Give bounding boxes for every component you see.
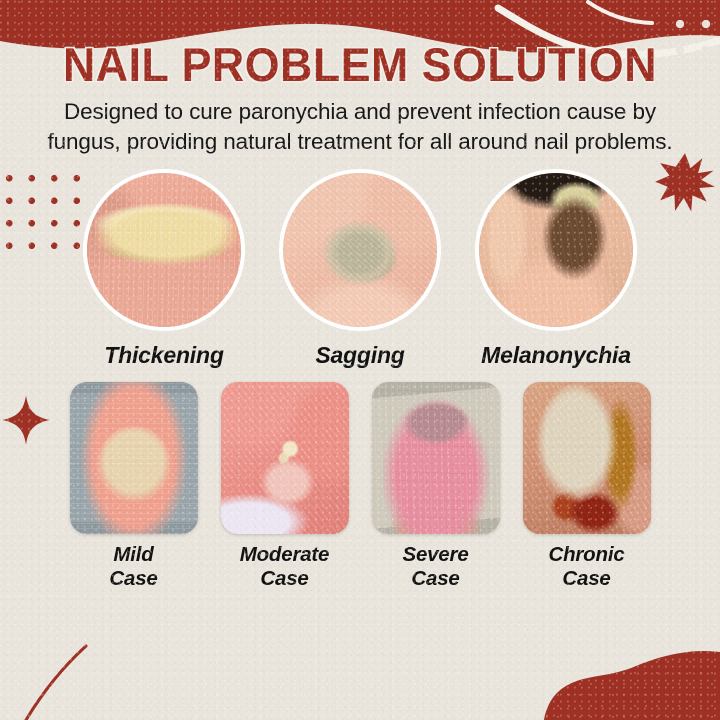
condition-label-thickening: Thickening [80,342,248,369]
severity-item-severe[interactable]: Severe Case [368,382,503,592]
page-subtitle: Designed to cure paronychia and prevent … [40,97,680,157]
severe-case-photo-frame [372,382,500,534]
severity-row: Mild Case Moderate Case Severe Case [0,382,720,592]
condition-label-sagging: Sagging [276,342,444,369]
severity-label-severe: Severe Case [368,543,503,592]
red-curve-line-bottom [20,640,150,720]
severity-label-mild-line1: Mild [113,543,153,566]
severe-case-photo [372,382,500,534]
nail-thickening-photo-frame [83,169,245,331]
nail-sagging-photo-frame [279,169,441,331]
severity-label-chronic-line2: Case [519,567,654,592]
mild-case-photo-frame [70,382,198,534]
nail-thickening-photo [87,173,241,327]
severity-label-chronic-line1: Chronic [548,543,624,566]
moderate-case-photo [221,382,349,534]
severity-label-moderate: Moderate Case [217,543,352,592]
severity-item-chronic[interactable]: Chronic Case [519,382,654,592]
condition-label-melanonychia: Melanonychia [472,342,640,369]
severity-label-mild-line2: Case [66,567,201,592]
moderate-case-photo-frame [221,382,349,534]
condition-item-melanonychia[interactable]: Melanonychia [472,169,640,369]
condition-item-sagging[interactable]: Sagging [276,169,444,369]
poster-canvas: NAIL PROBLEM SOLUTION Designed to cure p… [0,0,720,720]
chronic-case-photo [523,382,651,534]
nail-melanonychia-photo [479,173,633,327]
poster-header: NAIL PROBLEM SOLUTION Designed to cure p… [0,0,720,157]
severity-label-moderate-line2: Case [217,567,352,592]
page-title: NAIL PROBLEM SOLUTION [18,0,702,88]
severity-label-severe-line2: Case [368,567,503,592]
nail-sagging-photo [283,173,437,327]
severity-label-moderate-line1: Moderate [240,543,330,566]
severity-label-mild: Mild Case [66,543,201,592]
mild-case-photo [70,382,198,534]
condition-item-thickening[interactable]: Thickening [80,169,248,369]
chronic-case-photo-frame [523,382,651,534]
severity-item-moderate[interactable]: Moderate Case [217,382,352,592]
severity-item-mild[interactable]: Mild Case [66,382,201,592]
severity-label-severe-line1: Severe [402,543,468,566]
conditions-row: Thickening Sagging Melanonychia [0,169,720,369]
nail-melanonychia-photo-frame [475,169,637,331]
severity-label-chronic: Chronic Case [519,543,654,592]
red-wave-shape-bottom [0,630,720,720]
